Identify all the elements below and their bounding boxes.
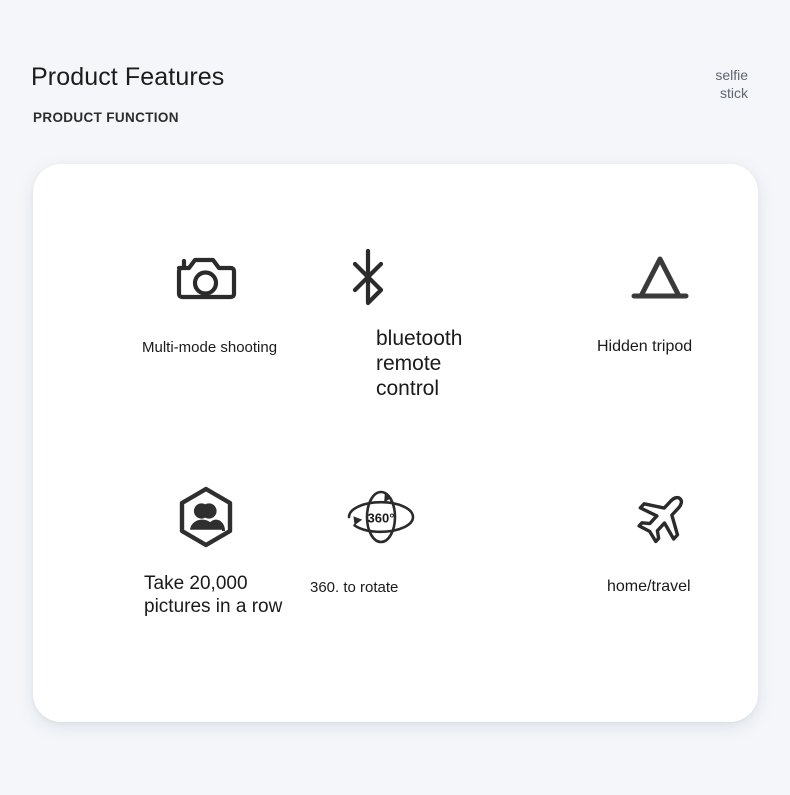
feature-item-360-rotate[interactable]: 360° 360. to rotate bbox=[301, 482, 531, 597]
feature-item-burst-pictures[interactable]: Take 20,000 pictures in a row bbox=[71, 482, 301, 618]
feature-label: 360. to rotate bbox=[310, 578, 531, 597]
page-subtitle: PRODUCT FUNCTION bbox=[33, 110, 179, 125]
feature-item-hidden-tripod[interactable]: Hidden tripod bbox=[533, 242, 763, 357]
airplane-icon bbox=[533, 482, 763, 552]
feature-item-home-travel[interactable]: home/travel bbox=[533, 482, 763, 597]
page-title: Product Features bbox=[31, 63, 224, 92]
feature-label: Take 20,000 pictures in a row bbox=[144, 572, 301, 618]
burst-portrait-icon bbox=[71, 482, 301, 552]
corner-note-line-1: selfie bbox=[628, 66, 748, 84]
rotate-360-icon: 360° bbox=[301, 482, 531, 552]
camera-icon bbox=[71, 242, 301, 312]
feature-item-multi-mode-shooting[interactable]: Multi-mode shooting bbox=[71, 242, 301, 357]
feature-label: bluetooth remote control bbox=[376, 326, 531, 401]
features-card: Multi-mode shooting bluetooth remote con… bbox=[33, 164, 758, 722]
feature-label: Multi-mode shooting bbox=[142, 338, 301, 357]
corner-note-line-2: stick bbox=[628, 84, 748, 102]
features-grid: Multi-mode shooting bluetooth remote con… bbox=[33, 164, 758, 722]
feature-item-bluetooth-remote-control[interactable]: bluetooth remote control bbox=[301, 242, 531, 401]
feature-label: home/travel bbox=[607, 577, 763, 597]
bluetooth-icon bbox=[301, 242, 531, 312]
page-header: Product Features PRODUCT FUNCTION selfie… bbox=[0, 0, 790, 150]
corner-note: selfie stick bbox=[628, 66, 748, 102]
tripod-icon bbox=[533, 242, 763, 312]
rotate-360-icon-text: 360° bbox=[368, 511, 395, 526]
feature-label: Hidden tripod bbox=[597, 337, 763, 357]
